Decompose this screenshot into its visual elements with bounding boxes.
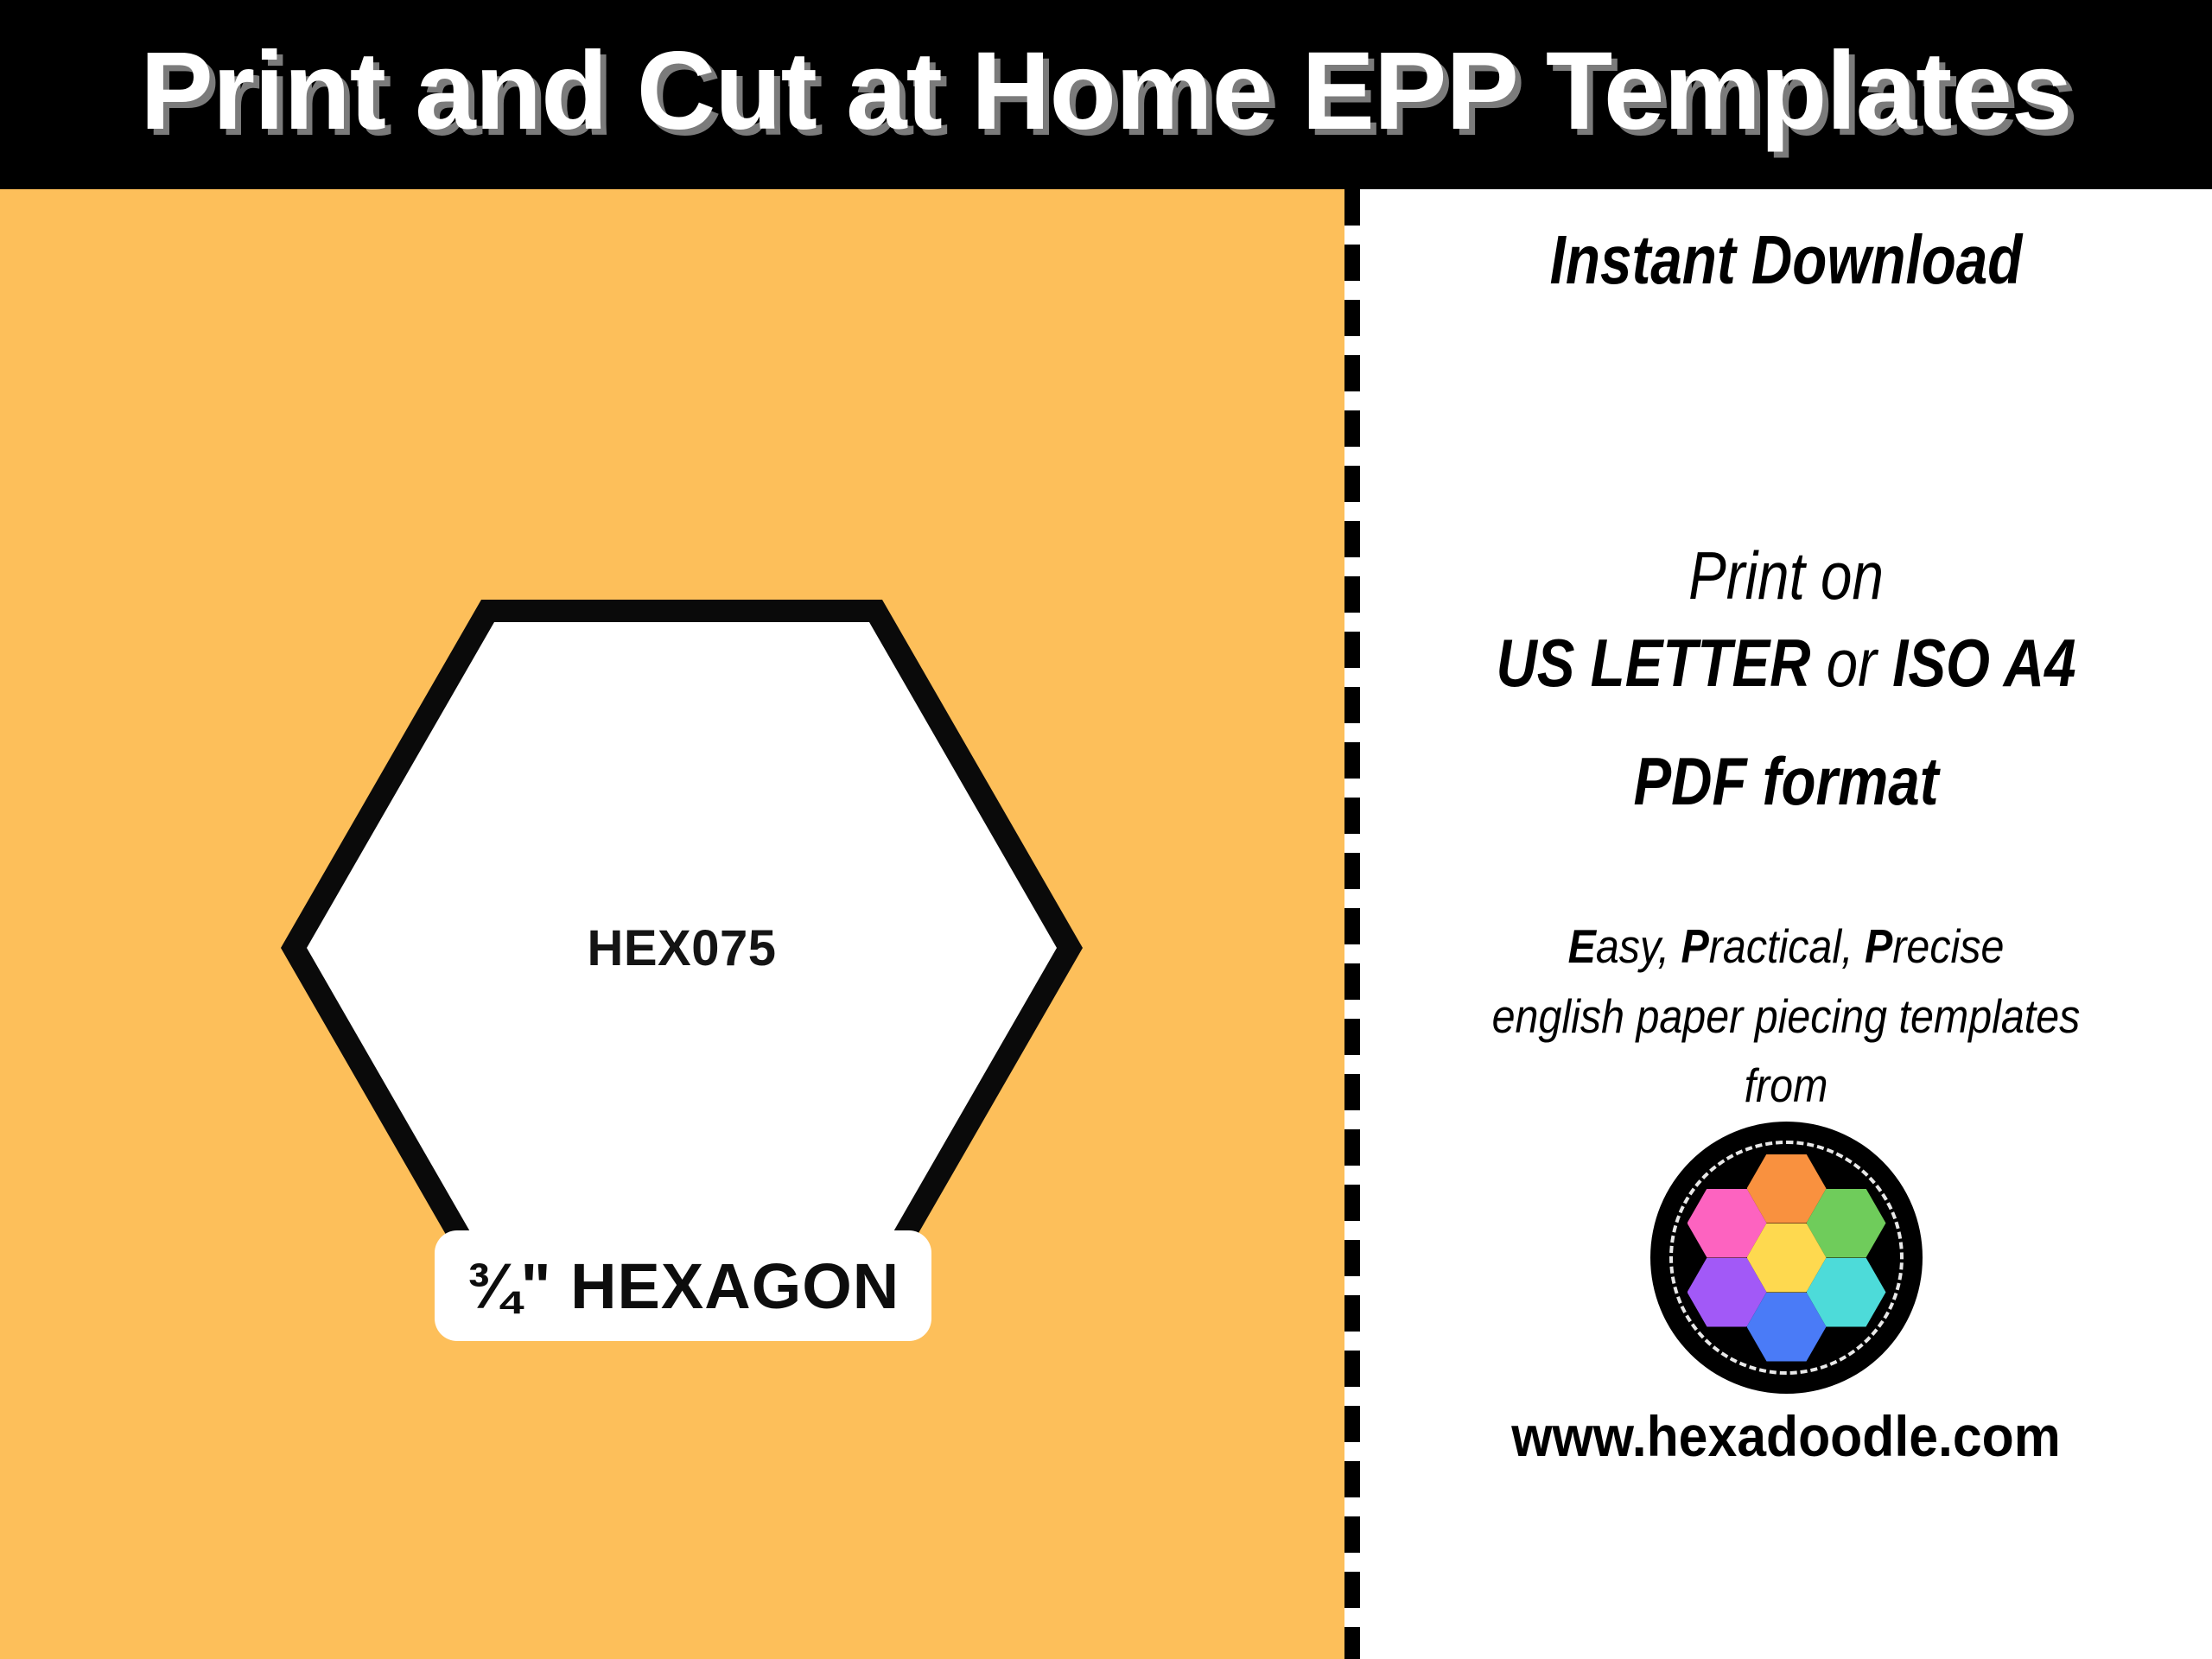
file-format-label: PDF format: [1428, 742, 2144, 821]
tagline-line-3: from: [1411, 1058, 2161, 1113]
hexagon-code-label: HEX075: [281, 600, 1083, 1296]
dashed-divider: [1344, 189, 1360, 1659]
paper-size-conjunction: or: [1827, 625, 1877, 701]
page-title: Print and Cut at Home EPP Templates: [140, 36, 2071, 154]
poster-canvas: Print and Cut at Home EPP Templates ¾ in…: [0, 0, 2212, 1659]
tagline-word-practical: ractical,: [1709, 919, 1865, 973]
tagline-line-1: Easy, Practical, Precise: [1411, 918, 2161, 974]
instant-download-heading: Instant Download: [1437, 220, 2136, 300]
tagline-line-2: english paper piecing templates: [1411, 988, 2161, 1044]
paper-sizes-line: US LETTER or ISO A4: [1428, 624, 2144, 702]
hexadoodle-logo: [1650, 1122, 1923, 1394]
tagline-word-precise: recise: [1892, 919, 2004, 973]
paper-size-iso-a4: ISO A4: [1892, 625, 2075, 701]
header-bar: Print and Cut at Home EPP Templates: [0, 0, 2212, 189]
logo-hexagon-cluster: [1650, 1122, 1923, 1394]
paper-size-us-letter: US LETTER: [1496, 625, 1810, 701]
tagline-initial-p2: P: [1865, 919, 1892, 973]
info-panel: Instant Download Print on US LETTER or I…: [1360, 189, 2212, 1659]
print-on-label: Print on: [1428, 537, 2144, 615]
tagline-initial-p1: P: [1681, 919, 1709, 973]
hexagon-shape: HEX075: [281, 600, 1083, 1296]
size-badge-label: ¾" HEXAGON: [467, 1249, 900, 1323]
tagline-word-easy: asy,: [1596, 919, 1681, 973]
size-badge: ¾" HEXAGON: [435, 1230, 931, 1341]
website-url[interactable]: www.hexadoodle.com: [1394, 1403, 2177, 1469]
tagline-initial-e: E: [1568, 919, 1596, 973]
template-preview-panel: ¾ inch HEX075 ¾" HEXAGON: [0, 189, 1344, 1659]
